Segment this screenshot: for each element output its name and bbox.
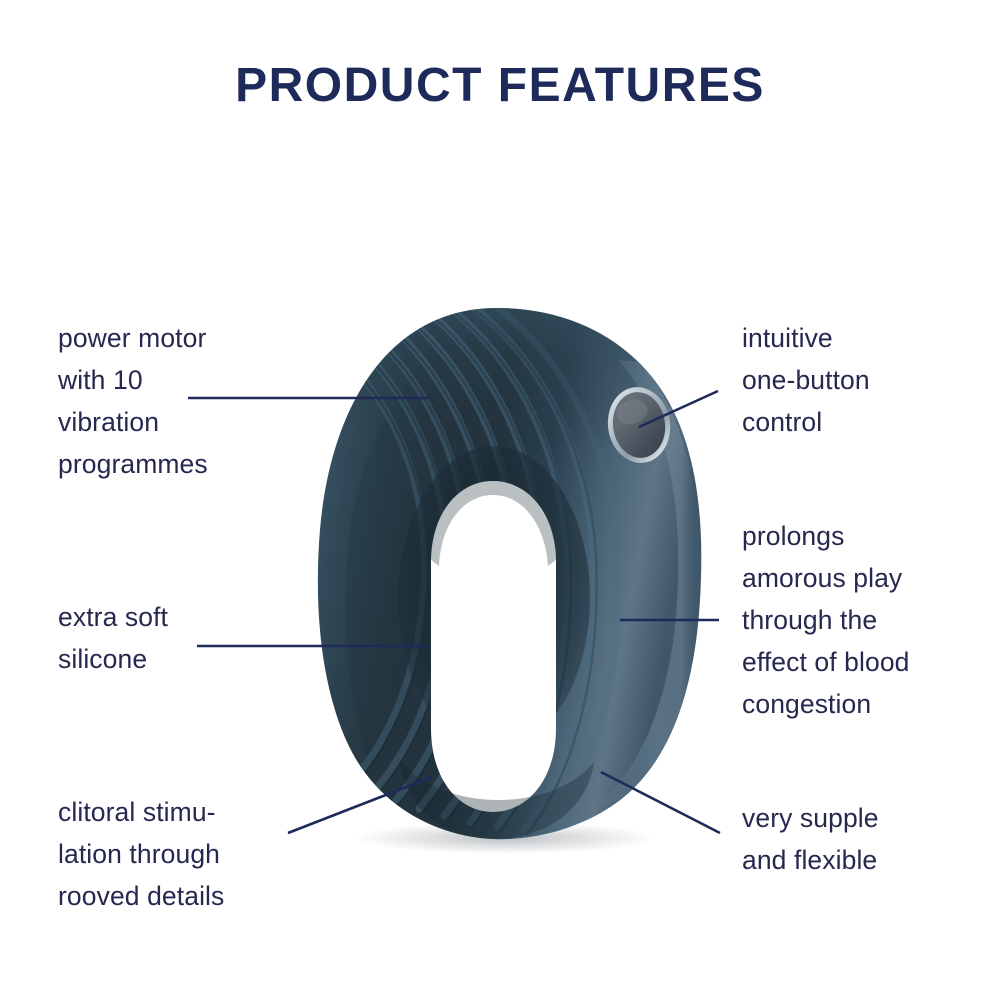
feature-label-power-motor: power motor with 10 vibration programmes xyxy=(58,317,338,485)
feature-label-clitoral-stimulation: clitoral stimu- lation through rooved de… xyxy=(58,791,358,917)
ring-opening xyxy=(431,481,556,812)
product-features-page: PRODUCT FEATURES xyxy=(0,0,1000,1000)
product-body xyxy=(315,275,701,839)
feature-label-prolongs-amorous-play: prolongs amorous play through the effect… xyxy=(742,515,992,725)
feature-label-very-supple-and-flexible: very supple and flexible xyxy=(742,797,992,881)
feature-label-one-button-control: intuitive one-button control xyxy=(742,317,992,443)
feature-label-extra-soft-silicone: extra soft silicone xyxy=(58,596,338,680)
